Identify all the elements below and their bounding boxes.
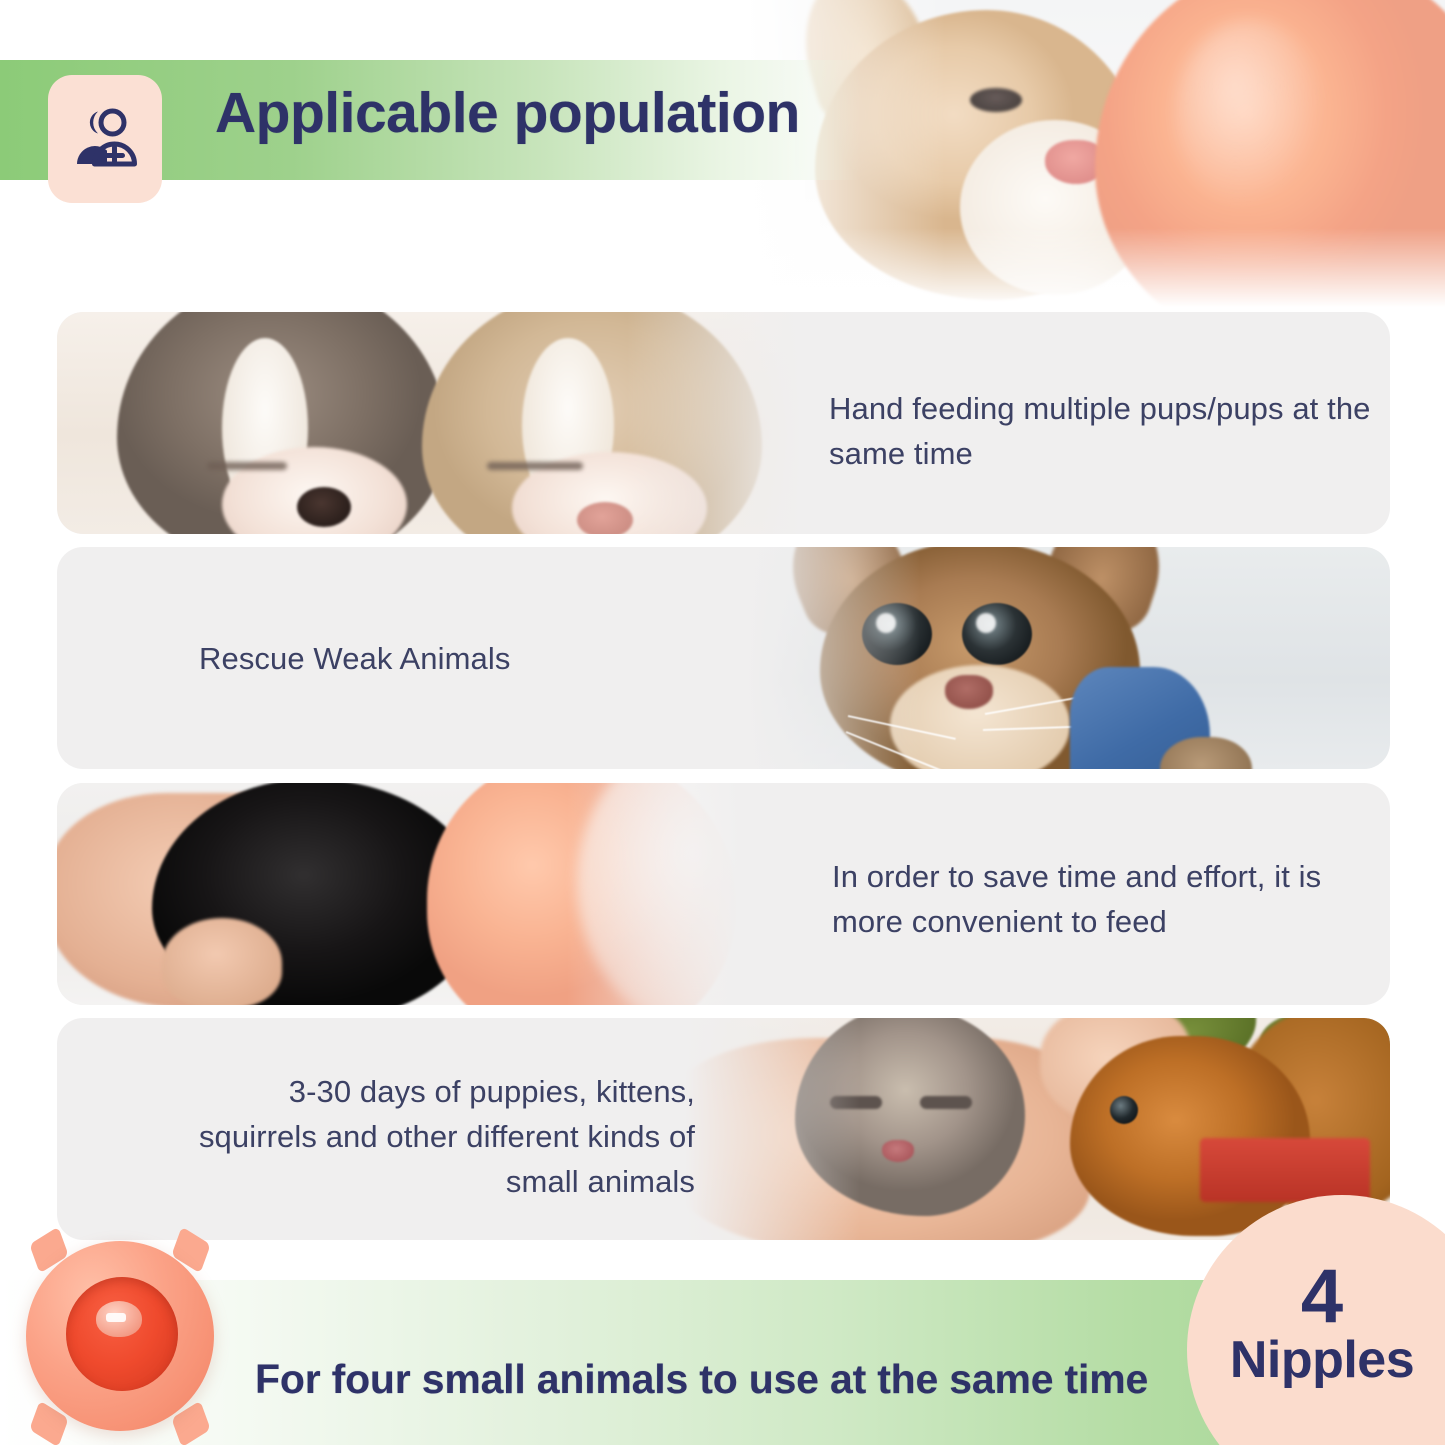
feature-caption: 3-30 days of puppies, kittens, squirrels… <box>185 1070 695 1205</box>
feature-card-multi-pups: Hand feeding multiple pups/pups at the s… <box>57 312 1390 534</box>
photo-tabby-kitten <box>730 547 1390 769</box>
product-image-nipple-disc <box>8 1229 226 1443</box>
feature-caption: Rescue Weak Animals <box>199 637 719 682</box>
feature-caption: Hand feeding multiple pups/pups at the s… <box>829 387 1389 477</box>
feature-caption: In order to save time and effort, it is … <box>832 855 1390 945</box>
badge-number: 4 <box>1301 1261 1343 1333</box>
photo-black-puppy-feeding <box>57 783 757 1005</box>
feature-card-animal-types: 3-30 days of puppies, kittens, squirrels… <box>57 1018 1390 1240</box>
feature-card-rescue-weak: Rescue Weak Animals <box>57 547 1390 769</box>
users-add-icon <box>48 75 162 203</box>
badge-label: Nipples <box>1230 1333 1414 1388</box>
infographic-page: Applicable population Hand feeding multi… <box>0 0 1445 1445</box>
feature-card-save-time: In order to save time and effort, it is … <box>57 783 1390 1005</box>
page-title: Applicable population <box>215 80 800 146</box>
photo-sleeping-puppies <box>57 312 817 534</box>
footer-tagline: For four small animals to use at the sam… <box>255 1356 1148 1403</box>
